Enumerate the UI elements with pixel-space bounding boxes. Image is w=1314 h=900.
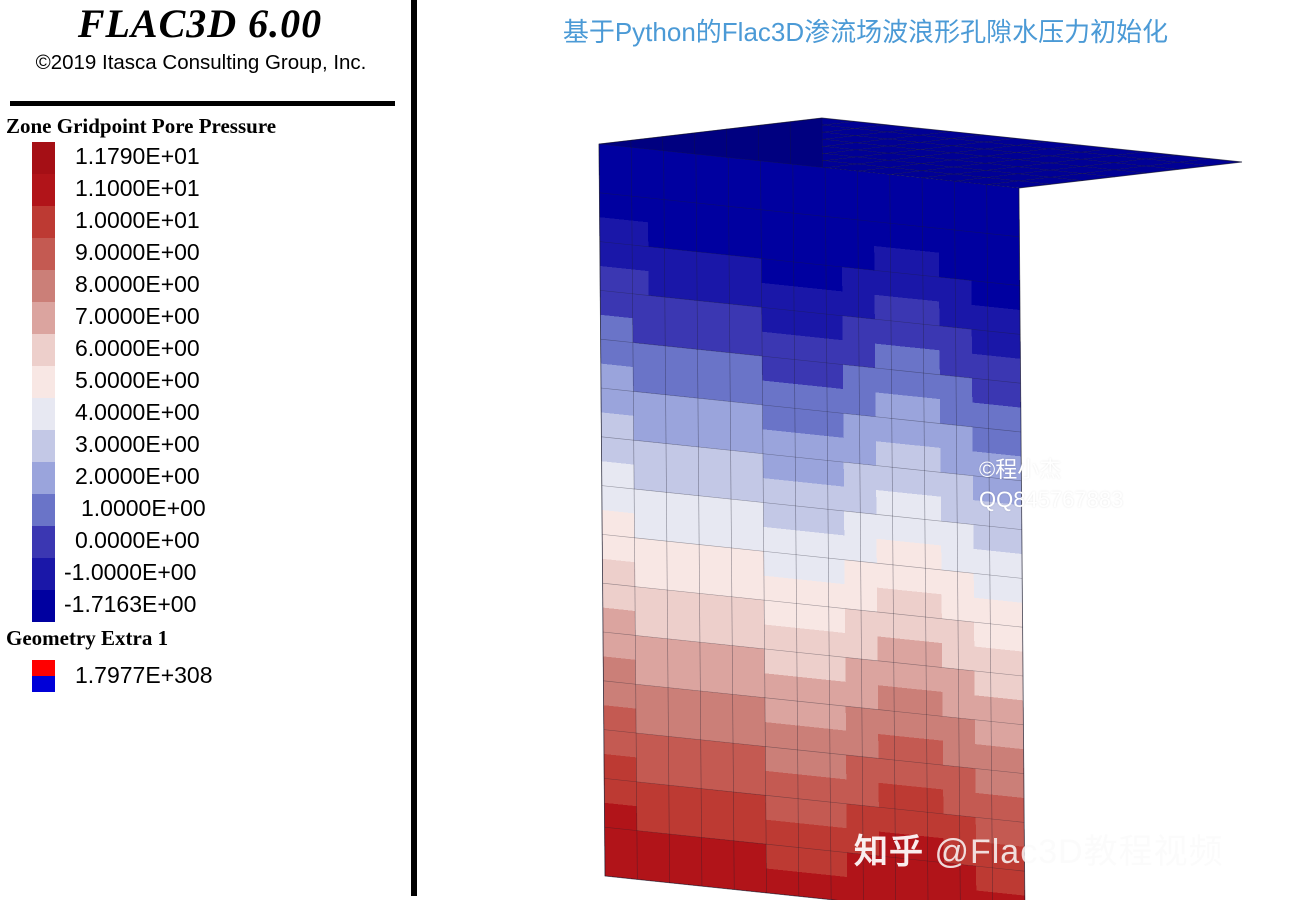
mesh-face [763, 454, 779, 480]
mesh-face [637, 782, 653, 808]
mesh-face [634, 489, 650, 515]
mesh-face [892, 467, 908, 493]
mesh-face [700, 642, 716, 668]
mesh-face [782, 748, 798, 774]
mesh-face [927, 812, 943, 838]
mesh-face [747, 428, 763, 454]
mesh-face [732, 670, 748, 696]
color-ramp-label: -1.0000E+00 [64, 556, 206, 588]
mesh-face [668, 736, 684, 762]
mesh-face [762, 381, 778, 407]
mesh-face [617, 365, 633, 391]
mesh-face [682, 445, 698, 471]
mesh-face [619, 561, 635, 587]
mesh-face [798, 774, 814, 800]
mesh-face [748, 647, 764, 673]
mesh-face [733, 719, 749, 745]
color-ramp-band [32, 366, 55, 398]
mesh-face [831, 875, 847, 900]
mesh-face [650, 491, 666, 517]
mesh-face [697, 227, 713, 253]
mesh-face [748, 574, 764, 600]
mesh-face [892, 492, 908, 518]
mesh-face [764, 625, 780, 651]
mesh-face [989, 502, 1005, 528]
mesh-face [683, 543, 699, 569]
mesh-face [747, 476, 763, 502]
mesh-face [651, 613, 667, 639]
mesh-face [665, 370, 681, 396]
mesh-face [874, 246, 890, 272]
mesh-face [728, 182, 744, 208]
mesh-face [809, 166, 825, 192]
mesh-face [649, 320, 665, 346]
mesh-face [957, 523, 973, 549]
legend-panel: FLAC3D 6.00 ©2019 Itasca Consulting Grou… [0, 0, 417, 900]
mesh-face [845, 609, 861, 635]
mesh-face [650, 442, 666, 468]
mesh-face [972, 354, 988, 380]
mesh-face [960, 840, 976, 866]
mesh-face [906, 201, 922, 227]
mesh-face [974, 598, 990, 624]
mesh-face [599, 144, 615, 170]
mesh-face [972, 403, 988, 429]
mesh-face [954, 181, 970, 207]
mesh-face [874, 270, 890, 296]
mesh-face [908, 420, 924, 446]
mesh-face [617, 414, 633, 440]
mesh-face [909, 591, 925, 617]
mesh-face [699, 471, 715, 497]
mesh-face [812, 483, 828, 509]
mesh-face [615, 170, 631, 196]
mesh-face [893, 614, 909, 640]
mesh-face [926, 617, 942, 643]
mesh-face [912, 859, 928, 885]
mesh-face [616, 268, 632, 294]
mesh-face [793, 189, 809, 215]
mesh-face [617, 317, 633, 343]
mesh-face [990, 551, 1006, 577]
mesh-face [605, 827, 621, 853]
mesh-face [828, 558, 844, 584]
mesh-face [636, 684, 652, 710]
mesh-face [718, 863, 734, 889]
mesh-face [907, 323, 923, 349]
mesh-face [939, 253, 955, 279]
mesh-face [829, 583, 845, 609]
mesh-face [907, 274, 923, 300]
mesh-face [890, 223, 906, 249]
mesh-face [719, 128, 736, 154]
mesh-face [620, 707, 636, 733]
mesh-face [715, 449, 731, 475]
mesh-face [778, 285, 794, 311]
mesh-face [1008, 796, 1024, 822]
mesh-face [634, 465, 650, 491]
mesh-face [891, 297, 907, 323]
mesh-face [648, 149, 664, 175]
mesh-face [942, 619, 958, 645]
mesh-face [992, 819, 1008, 845]
mesh-face [861, 635, 877, 661]
mesh-face [793, 238, 809, 264]
mesh-face [1005, 504, 1021, 530]
color-ramp-band [32, 590, 55, 622]
mesh-face [664, 224, 680, 250]
mesh-face [843, 316, 859, 342]
mesh-face [795, 433, 811, 459]
mesh-face [753, 124, 770, 150]
mesh-face [779, 382, 795, 408]
mesh-face [990, 575, 1006, 601]
mesh-face [815, 874, 831, 900]
mesh-face [651, 540, 667, 566]
mesh-face [733, 792, 749, 818]
mesh-face [681, 348, 697, 374]
mesh-face [701, 789, 717, 815]
mesh-face [713, 205, 729, 231]
mesh-face [601, 364, 617, 390]
mesh-face [972, 378, 988, 404]
mesh-face [685, 811, 701, 837]
mesh-face [780, 529, 796, 555]
mesh-face [988, 307, 1004, 333]
mesh-face [911, 786, 927, 812]
mesh-face [667, 517, 683, 543]
mesh-face [780, 553, 796, 579]
mesh-face [927, 739, 943, 765]
mesh-face [926, 690, 942, 716]
mesh-face [814, 752, 830, 778]
mesh-face [681, 275, 697, 301]
mesh-face [686, 860, 702, 886]
mesh-face [793, 213, 809, 239]
mesh-face [860, 464, 876, 490]
mesh-face [794, 335, 810, 361]
mesh-face [717, 717, 733, 743]
mesh-face [620, 731, 636, 757]
mesh-face [778, 358, 794, 384]
mesh-face [826, 241, 842, 267]
mesh-face [635, 538, 651, 564]
mesh-face [746, 330, 762, 356]
mesh-face [975, 720, 991, 746]
mesh-face [846, 682, 862, 708]
mesh-face [716, 644, 732, 670]
mesh-face [665, 297, 681, 323]
mesh-face [809, 215, 825, 241]
mesh-face [876, 490, 892, 516]
mesh-face [783, 870, 799, 896]
mesh-face [620, 780, 636, 806]
mesh-face [731, 450, 747, 476]
color-ramp-band [32, 494, 55, 526]
color-ramp-band [32, 238, 55, 270]
mesh-face [841, 169, 857, 195]
mesh-face [879, 832, 895, 858]
mesh-face [683, 567, 699, 593]
mesh-face [648, 247, 664, 273]
mesh-face [955, 230, 971, 256]
mesh-face [959, 742, 975, 768]
color-ramp-label: 1.0000E+00 [81, 492, 206, 524]
geometry-extra-swatch [32, 660, 55, 692]
mesh-face [734, 841, 750, 867]
mesh-face [747, 501, 763, 527]
mesh-face [616, 243, 632, 269]
mesh-face [684, 714, 700, 740]
mesh-face [697, 252, 713, 278]
mesh-face [732, 597, 748, 623]
mesh-face [745, 208, 761, 234]
mesh-face [777, 236, 793, 262]
mesh-face [782, 773, 798, 799]
mesh-face [713, 302, 729, 328]
mesh-face [636, 757, 652, 783]
mesh-face [601, 437, 617, 463]
color-ramp-band [32, 174, 55, 206]
mesh-face [793, 164, 809, 190]
color-ramp-band [32, 142, 55, 174]
mesh-face [972, 329, 988, 355]
mesh-face [744, 159, 760, 185]
mesh-face [664, 151, 680, 177]
mesh-face [777, 187, 793, 213]
mesh-face [879, 783, 895, 809]
mesh-face [685, 787, 701, 813]
mesh-face [777, 163, 793, 189]
mesh-face [1006, 601, 1022, 627]
mesh-face [665, 346, 681, 372]
mesh-face [779, 455, 795, 481]
mesh-face [923, 275, 939, 301]
mesh-face [794, 311, 810, 337]
mesh-face [633, 391, 649, 417]
mesh-face [761, 259, 777, 285]
mesh-face [696, 203, 712, 229]
mesh-face [616, 195, 632, 221]
mesh-face [702, 862, 718, 888]
mesh-face [973, 500, 989, 526]
mesh-face [974, 573, 990, 599]
mesh-face [748, 550, 764, 576]
mesh-face [733, 768, 749, 794]
mesh-face [976, 793, 992, 819]
mesh-face [812, 508, 828, 534]
mesh-face [940, 350, 956, 376]
mesh-face [842, 243, 858, 269]
mesh-face [699, 545, 715, 571]
mesh-face [620, 756, 636, 782]
mesh-face [700, 593, 716, 619]
mesh-face [616, 219, 632, 245]
mesh-face [666, 492, 682, 518]
mesh-face [717, 790, 733, 816]
mesh-face [698, 423, 714, 449]
mesh-face [696, 154, 712, 180]
mesh-face [842, 267, 858, 293]
mesh-face [991, 746, 1007, 772]
mesh-face [976, 842, 992, 868]
mesh-face [847, 828, 863, 854]
mesh-face [652, 735, 668, 761]
mesh-face [895, 785, 911, 811]
mesh-face [959, 791, 975, 817]
geometry-extra-swatch-bottom [32, 676, 55, 692]
mesh-face [603, 656, 619, 682]
mesh-face [844, 535, 860, 561]
mesh-face [761, 161, 777, 187]
mesh-face [795, 384, 811, 410]
mesh-face [805, 142, 822, 168]
mesh-face [748, 623, 764, 649]
mesh-face [925, 544, 941, 570]
mesh-face [782, 797, 798, 823]
mesh-face [943, 814, 959, 840]
mesh-face [715, 522, 731, 548]
mesh-face [941, 521, 957, 547]
mesh-face [750, 818, 766, 844]
mesh-face [696, 179, 712, 205]
mesh-face [600, 217, 616, 243]
mesh-face [729, 255, 745, 281]
mesh-face [813, 678, 829, 704]
mesh-face [955, 206, 971, 232]
mesh-face [634, 440, 650, 466]
mesh-face [667, 614, 683, 640]
mesh-face [829, 607, 845, 633]
mesh-face [765, 747, 781, 773]
mesh-face [829, 656, 845, 682]
mesh-face [987, 185, 1003, 211]
mesh-face [746, 354, 762, 380]
mesh-face [1006, 552, 1022, 578]
mesh-face [906, 225, 922, 251]
mesh-face [600, 290, 616, 316]
mesh-face [893, 589, 909, 615]
mesh-face [894, 711, 910, 737]
mesh-face [684, 689, 700, 715]
mesh-face [797, 701, 813, 727]
mesh-face [745, 281, 761, 307]
mesh-face [764, 600, 780, 626]
mesh-face [859, 318, 875, 344]
mesh-face [955, 303, 971, 329]
mesh-face [926, 593, 942, 619]
mesh-face [909, 493, 925, 519]
color-ramp-label: 2.0000E+00 [75, 460, 206, 492]
mesh-face [910, 615, 926, 641]
mesh-face [844, 462, 860, 488]
mesh-face [747, 525, 763, 551]
mesh-face [892, 443, 908, 469]
app-title: FLAC3D 6.00 [0, 2, 400, 46]
mesh-face [681, 250, 697, 276]
mesh-face [636, 709, 652, 735]
mesh-face [604, 754, 620, 780]
mesh-face [714, 424, 730, 450]
mesh-face [874, 197, 890, 223]
mesh-face [778, 333, 794, 359]
model-3d-block[interactable] [417, 0, 1314, 900]
mesh-face [649, 344, 665, 370]
mesh-face [729, 231, 745, 257]
mesh-face [876, 466, 892, 492]
mesh-face [762, 307, 778, 333]
mesh-face [975, 695, 991, 721]
mesh-face [700, 667, 716, 693]
mesh-face [957, 498, 973, 524]
mesh-face [765, 698, 781, 724]
pore-pressure-legend-labels: 1.1790E+011.1000E+011.0000E+019.0000E+00… [75, 140, 206, 620]
mesh-face [683, 494, 699, 520]
mesh-face [736, 126, 753, 152]
mesh-face [1005, 479, 1021, 505]
mesh-face [908, 396, 924, 422]
geometry-extra-swatch-top [32, 660, 55, 676]
mesh-face [632, 196, 648, 222]
mesh-face [715, 497, 731, 523]
mesh-face [858, 220, 874, 246]
mesh-face [618, 536, 634, 562]
geometry-extra-legend-title: Geometry Extra 1 [6, 626, 168, 651]
mesh-face [750, 794, 766, 820]
mesh-face [987, 258, 1003, 284]
mesh-face [910, 713, 926, 739]
mesh-face [603, 608, 619, 634]
mesh-face [896, 882, 912, 900]
mesh-face [683, 519, 699, 545]
mesh-face [714, 375, 730, 401]
model-viewport[interactable]: 基于Python的Flac3D渗流场波浪形孔隙水压力初始化 ©程小杰 QQ845… [417, 0, 1314, 900]
mesh-face [1006, 528, 1022, 554]
mesh-face [847, 804, 863, 830]
mesh-face [794, 360, 810, 386]
mesh-face [895, 760, 911, 786]
mesh-face [859, 391, 875, 417]
mesh-face [975, 671, 991, 697]
mesh-face [974, 549, 990, 575]
mesh-face [895, 833, 911, 859]
mesh-face [618, 463, 634, 489]
mesh-face [750, 867, 766, 893]
mesh-face [664, 248, 680, 274]
mesh-face [960, 864, 976, 890]
mesh-face [794, 262, 810, 288]
mesh-face [684, 665, 700, 691]
mesh-face [811, 434, 827, 460]
mesh-face [863, 806, 879, 832]
color-ramp-label: 1.0000E+01 [75, 204, 206, 236]
mesh-face [1004, 333, 1020, 359]
mesh-face [715, 546, 731, 572]
mesh-face [890, 175, 906, 201]
mesh-face [716, 619, 732, 645]
mesh-face [603, 681, 619, 707]
mesh-face [974, 622, 990, 648]
mesh-face [927, 763, 943, 789]
mesh-face [730, 426, 746, 452]
mesh-face [1008, 772, 1024, 798]
mesh-face [749, 696, 765, 722]
mesh-face [924, 373, 940, 399]
mesh-face [910, 640, 926, 666]
mesh-face [990, 526, 1006, 552]
color-ramp-label: 3.0000E+00 [75, 428, 206, 460]
mesh-face [1005, 430, 1021, 456]
